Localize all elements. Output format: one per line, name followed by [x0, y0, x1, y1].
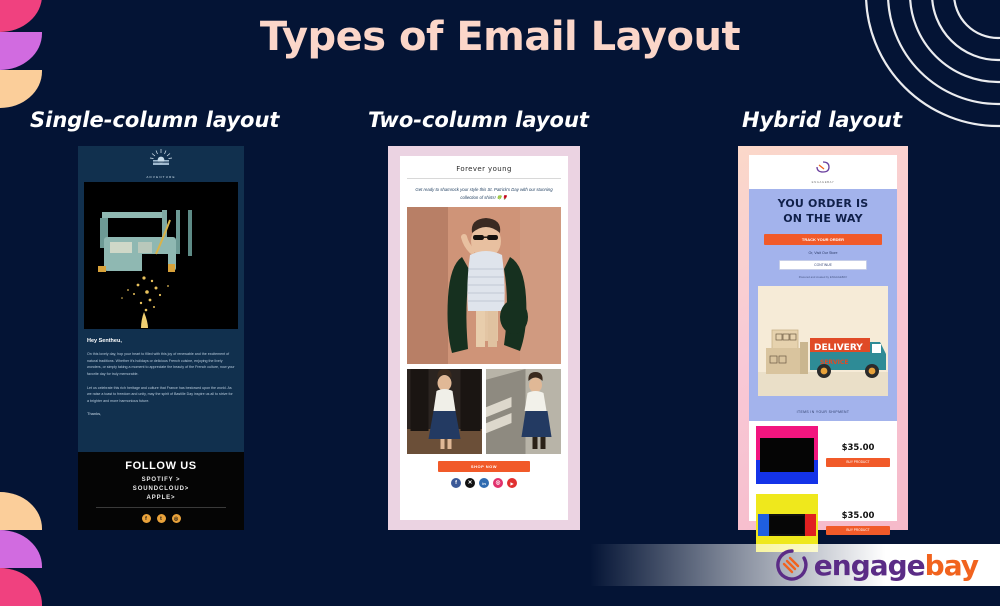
shipment-label: ITEMS IN YOUR SHIPMENT	[749, 403, 897, 421]
footer-link-soundcloud[interactable]: SOUNDCLOUD>	[84, 486, 238, 492]
engagebay-swoosh-icon	[775, 548, 809, 582]
brand-name: Forever young	[407, 162, 561, 178]
half-circle-orange	[0, 70, 42, 108]
heading-single-column: Single-column layout	[30, 108, 279, 132]
follow-us-heading: FOLLOW US	[84, 460, 238, 472]
facebook-icon[interactable]: f	[451, 478, 461, 488]
product-row[interactable]: $35.00 BUY PRODUCT	[749, 421, 897, 489]
buy-product-button[interactable]: BUY PRODUCT	[826, 526, 890, 535]
two-column-email-mockup[interactable]: Forever young Get ready to shamrock your…	[388, 146, 580, 530]
adventure-sunburst-logo-icon	[148, 149, 174, 169]
svg-text:DELIVERY: DELIVERY	[814, 343, 863, 353]
heading-two-column: Two-column layout	[368, 108, 589, 132]
page-title: Types of Email Layout	[0, 14, 1000, 60]
email-header: ADVENTURE	[78, 146, 244, 182]
product-price: $35.00	[826, 511, 890, 521]
instagram-icon[interactable]: ◎	[172, 514, 181, 523]
track-order-button[interactable]: TRACK YOUR ORDER	[764, 234, 882, 245]
social-icon-row: f t ◎	[84, 514, 238, 523]
hero-image	[407, 207, 561, 364]
section-headings: Single-column layout Two-column layout H…	[0, 108, 1000, 142]
paragraph-2: Let us celebrate this rich heritage and …	[87, 385, 235, 405]
greeting-text: Hey Sentheu,	[87, 338, 235, 344]
divider	[96, 507, 226, 508]
hybrid-email-mockup[interactable]: ENGAGEBAY YOU ORDER IS ON THE WAY TRACK …	[738, 146, 908, 530]
thumbnail-row	[407, 369, 561, 454]
logo-label: ADVENTURE	[146, 175, 175, 179]
logo-text-bay: bay	[925, 549, 978, 582]
footer-link-apple[interactable]: APPLE>	[84, 495, 238, 501]
email-body: Hey Sentheu, On this lovely day, hop you…	[78, 329, 244, 452]
visit-store-link[interactable]: Or, Visit Our Store	[758, 251, 888, 255]
signature-text: Thanks,	[87, 411, 235, 416]
youtube-icon[interactable]: ▶	[507, 478, 517, 488]
footer-link-spotify[interactable]: SPOTIFY >	[84, 477, 238, 483]
fine-print: Powered and created by ENGAGEBAY	[758, 275, 888, 279]
product-thumbnail	[756, 426, 818, 484]
half-circle-orange	[0, 492, 42, 530]
engagebay-logo-icon	[815, 161, 831, 174]
footer-logo-band: engagebay	[590, 544, 1000, 586]
product-thumbnail	[756, 494, 818, 552]
order-title-line-1: YOU ORDER IS	[758, 197, 888, 212]
continue-button[interactable]: CONTINUE	[779, 260, 867, 270]
shop-now-button[interactable]: SHOP NOW	[438, 461, 530, 472]
logo-label: ENGAGEBAY	[749, 180, 897, 184]
instagram-icon[interactable]: ◎	[493, 478, 503, 488]
heading-hybrid: Hybrid layout	[742, 108, 902, 132]
order-status-panel: YOU ORDER IS ON THE WAY TRACK YOUR ORDER…	[749, 189, 897, 403]
logo-text-engage: engage	[814, 549, 925, 582]
linkedin-icon[interactable]: in	[479, 478, 489, 488]
hero-image	[84, 182, 238, 329]
engagebay-logo[interactable]: engagebay	[775, 548, 978, 582]
divider	[407, 178, 561, 179]
twitter-x-icon[interactable]: ✕	[465, 478, 475, 488]
product-price: $35.00	[826, 443, 890, 453]
thumbnail-2	[486, 369, 561, 454]
half-circle-purple	[0, 530, 42, 568]
facebook-icon[interactable]: f	[142, 514, 151, 523]
half-circle-pink	[0, 568, 42, 606]
single-column-email-mockup[interactable]: ADVENTURE	[78, 146, 244, 530]
email-footer: FOLLOW US SPOTIFY > SOUNDCLOUD> APPLE> f…	[78, 452, 244, 530]
social-icon-row: f ✕ in ◎ ▶	[407, 478, 561, 488]
thumbnail-1	[407, 369, 482, 454]
paragraph-1: On this lovely day, hop your heart to fi…	[87, 351, 235, 378]
email-header: ENGAGEBAY	[749, 155, 897, 189]
promo-copy: Get ready to shamrock your style this St…	[407, 184, 561, 207]
decoration-bottom-left	[0, 492, 42, 606]
order-title-line-2: ON THE WAY	[758, 212, 888, 227]
buy-product-button[interactable]: BUY PRODUCT	[826, 458, 890, 467]
twitter-icon[interactable]: t	[157, 514, 166, 523]
delivery-image: DELIVERY SERVICE	[758, 286, 888, 396]
